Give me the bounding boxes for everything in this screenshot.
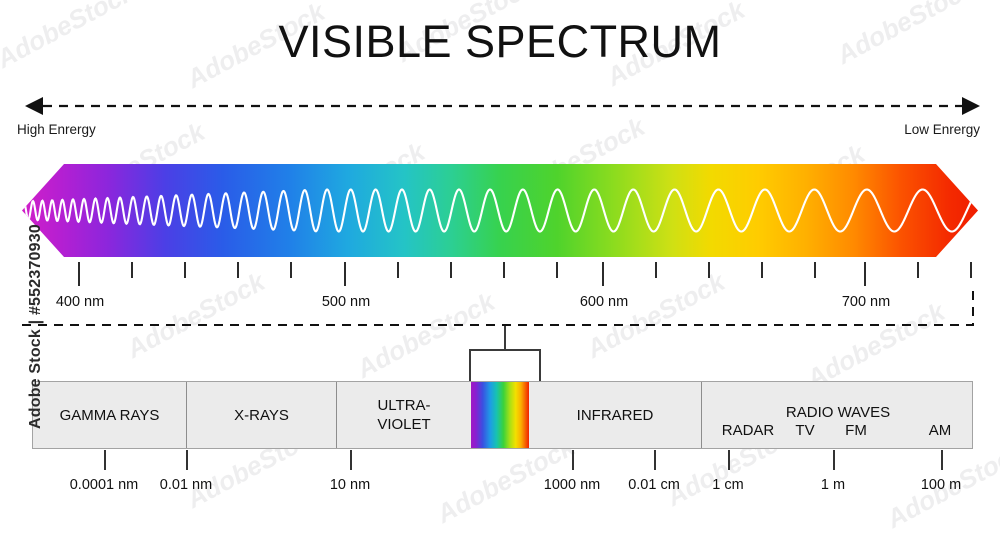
ruler-tick-minor <box>184 262 186 278</box>
watermark-stock-id: Adobe Stock | #552370930 <box>27 189 45 429</box>
em-wavelength-labels: 0.0001 nm0.01 nm10 nm1000 nm0.01 cm1 cm1… <box>0 477 1000 499</box>
em-spectrum-band: GAMMA RAYSX-RAYSULTRA-VIOLETINFRAREDRADI… <box>32 381 973 449</box>
radio-sublabel: FM <box>845 422 867 439</box>
ruler-tick-minor <box>556 262 558 278</box>
em-segment-label: GAMMA RAYS <box>60 406 160 425</box>
ruler-tick-minor <box>708 262 710 278</box>
ruler-tick-minor <box>397 262 399 278</box>
ruler-tick-minor <box>761 262 763 278</box>
em-tick-label: 100 m <box>921 477 961 493</box>
em-segment-divider <box>701 382 702 448</box>
em-wavelength-ticks <box>0 450 1000 472</box>
ruler-tick-minor <box>131 262 133 278</box>
visible-range-dashed-bracket <box>22 282 982 330</box>
em-tick-label: 0.0001 nm <box>70 477 139 493</box>
em-segment-radio-waves: RADIO WAVESRADARTVFMAM <box>701 382 974 448</box>
low-energy-label: Low Enrergy <box>904 122 980 137</box>
ruler-tick-minor <box>917 262 919 278</box>
em-segment-gamma-rays: GAMMA RAYS <box>33 382 186 448</box>
ruler-tick-minor <box>503 262 505 278</box>
em-segment-label: VIOLET <box>377 415 430 434</box>
em-tick <box>186 450 188 470</box>
em-segment-label: X-RAYS <box>234 406 289 425</box>
em-segment-infrared: INFRARED <box>529 382 701 448</box>
radio-sublabel-row: RADARTVFMAM <box>702 382 974 448</box>
em-tick <box>728 450 730 470</box>
ruler-tick-minor <box>655 262 657 278</box>
radio-sublabel: AM <box>929 422 952 439</box>
em-tick-label: 1000 nm <box>544 477 600 493</box>
em-tick <box>350 450 352 470</box>
em-tick-label: 0.01 nm <box>160 477 212 493</box>
em-tick-label: 1 m <box>821 477 845 493</box>
em-segment-visible-rainbow <box>471 382 529 448</box>
em-tick-label: 1 cm <box>712 477 743 493</box>
high-energy-label: High Enrergy <box>17 122 96 137</box>
em-tick <box>941 450 943 470</box>
em-segment-label: INFRARED <box>577 406 654 425</box>
energy-axis-labels: High Enrergy Low Enrergy <box>0 122 1000 142</box>
em-tick <box>833 450 835 470</box>
em-tick-label: 10 nm <box>330 477 370 493</box>
page-title: VISIBLE SPECTRUM <box>0 16 1000 68</box>
em-segment-ultra-violet: ULTRA-VIOLET <box>336 382 471 448</box>
ruler-tick-minor <box>290 262 292 278</box>
visible-callout-bracket <box>455 326 555 384</box>
ruler-tick-minor <box>237 262 239 278</box>
energy-axis-arrow <box>25 95 980 117</box>
em-segment-label: ULTRA- <box>377 396 430 415</box>
em-tick-label: 0.01 cm <box>628 477 680 493</box>
infographic-canvas: AdobeStock AdobeStock AdobeStock AdobeSt… <box>0 0 1000 522</box>
em-segment-divider <box>336 382 337 448</box>
visible-spectrum-band <box>22 164 978 257</box>
ruler-tick-minor <box>450 262 452 278</box>
em-tick <box>654 450 656 470</box>
em-segment-divider <box>186 382 187 448</box>
em-tick <box>104 450 106 470</box>
em-segment-x-rays: X-RAYS <box>186 382 336 448</box>
radio-sublabel: RADAR <box>722 422 775 439</box>
ruler-tick-minor <box>814 262 816 278</box>
radio-sublabel: TV <box>795 422 814 439</box>
em-tick <box>572 450 574 470</box>
ruler-tick-minor <box>970 262 972 278</box>
